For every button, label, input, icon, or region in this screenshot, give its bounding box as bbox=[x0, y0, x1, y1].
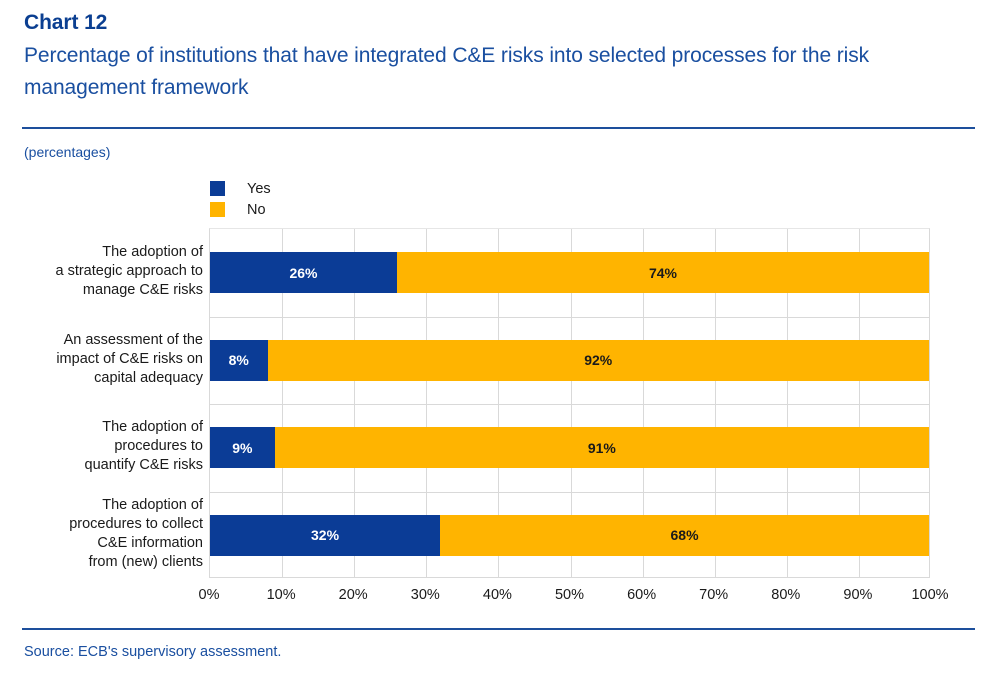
x-axis-labels: 0%10%20%30%40%50%60%70%80%90%100% bbox=[0, 586, 997, 608]
bar-value-label: 9% bbox=[232, 440, 252, 456]
chart-legend: Yes No bbox=[210, 178, 271, 220]
chart-number: Chart 12 bbox=[24, 8, 973, 38]
y-axis-label-line: impact of C&E risks on bbox=[0, 350, 203, 369]
chart-header: Chart 12 Percentage of institutions that… bbox=[24, 8, 973, 104]
plot-area: 26%74%8%92%9%91%32%68% bbox=[209, 228, 930, 578]
bar-segment-yes[interactable]: 9% bbox=[210, 427, 275, 468]
bar-value-label: 8% bbox=[229, 352, 249, 368]
legend-label-no: No bbox=[247, 202, 266, 218]
y-axis-label-line: procedures to bbox=[0, 437, 203, 456]
y-axis-label-line: The adoption of bbox=[0, 496, 203, 515]
y-axis-label: An assessment of theimpact of C&E risks … bbox=[0, 331, 203, 388]
y-axis-labels: The adoption ofa strategic approach toma… bbox=[0, 228, 203, 578]
page-title: Percentage of institutions that have int… bbox=[24, 40, 973, 104]
footer-divider bbox=[22, 628, 975, 630]
legend-swatch-yes bbox=[210, 181, 225, 196]
bar-series-container: 26%74%8%92%9%91%32%68% bbox=[210, 229, 929, 577]
x-axis-tick-label: 80% bbox=[771, 586, 800, 604]
x-axis-tick-label: 0% bbox=[199, 586, 220, 604]
bar-row[interactable]: 26%74% bbox=[210, 252, 929, 293]
y-axis-label-line: The adoption of bbox=[0, 243, 203, 262]
units-label: (percentages) bbox=[24, 143, 110, 161]
legend-label-yes: Yes bbox=[247, 181, 271, 197]
y-axis-label-line: procedures to collect bbox=[0, 515, 203, 534]
y-axis-label-line: The adoption of bbox=[0, 418, 203, 437]
x-axis-tick-label: 20% bbox=[339, 586, 368, 604]
legend-item-yes[interactable]: Yes bbox=[210, 178, 271, 199]
bar-value-label: 91% bbox=[588, 440, 616, 456]
y-axis-label-line: C&E information bbox=[0, 534, 203, 553]
y-axis-label-line: a strategic approach to bbox=[0, 262, 203, 281]
bar-row[interactable]: 8%92% bbox=[210, 340, 929, 381]
bar-segment-no[interactable]: 92% bbox=[268, 340, 929, 381]
y-axis-label-line: An assessment of the bbox=[0, 331, 203, 350]
legend-item-no[interactable]: No bbox=[210, 199, 271, 220]
bar-value-label: 32% bbox=[311, 527, 339, 543]
bar-row[interactable]: 32%68% bbox=[210, 515, 929, 556]
header-divider bbox=[22, 127, 975, 129]
bar-segment-yes[interactable]: 26% bbox=[210, 252, 397, 293]
x-axis-tick-label: 90% bbox=[843, 586, 872, 604]
legend-swatch-no bbox=[210, 202, 225, 217]
x-axis-tick-label: 10% bbox=[267, 586, 296, 604]
bar-value-label: 26% bbox=[289, 265, 317, 281]
bar-segment-no[interactable]: 91% bbox=[275, 427, 929, 468]
y-axis-label-line: quantify C&E risks bbox=[0, 456, 203, 475]
bar-segment-no[interactable]: 68% bbox=[440, 515, 929, 556]
bar-value-label: 68% bbox=[671, 527, 699, 543]
x-axis-tick-label: 50% bbox=[555, 586, 584, 604]
y-axis-label-line: from (new) clients bbox=[0, 553, 203, 572]
y-axis-label: The adoption ofprocedures toquantify C&E… bbox=[0, 418, 203, 475]
y-axis-label: The adoption ofa strategic approach toma… bbox=[0, 243, 203, 300]
source-note: Source: ECB's supervisory assessment. bbox=[24, 642, 281, 662]
bar-row[interactable]: 9%91% bbox=[210, 427, 929, 468]
bar-segment-no[interactable]: 74% bbox=[397, 252, 929, 293]
x-axis-tick-label: 100% bbox=[911, 586, 948, 604]
bar-segment-yes[interactable]: 8% bbox=[210, 340, 268, 381]
x-axis-tick-label: 30% bbox=[411, 586, 440, 604]
x-axis-tick-label: 70% bbox=[699, 586, 728, 604]
bar-segment-yes[interactable]: 32% bbox=[210, 515, 440, 556]
y-axis-label-line: capital adequacy bbox=[0, 369, 203, 388]
x-axis-tick-label: 60% bbox=[627, 586, 656, 604]
bar-value-label: 74% bbox=[649, 265, 677, 281]
bar-value-label: 92% bbox=[584, 352, 612, 368]
y-axis-label-line: manage C&E risks bbox=[0, 281, 203, 300]
y-axis-label: The adoption ofprocedures to collectC&E … bbox=[0, 496, 203, 572]
x-axis-tick-label: 40% bbox=[483, 586, 512, 604]
